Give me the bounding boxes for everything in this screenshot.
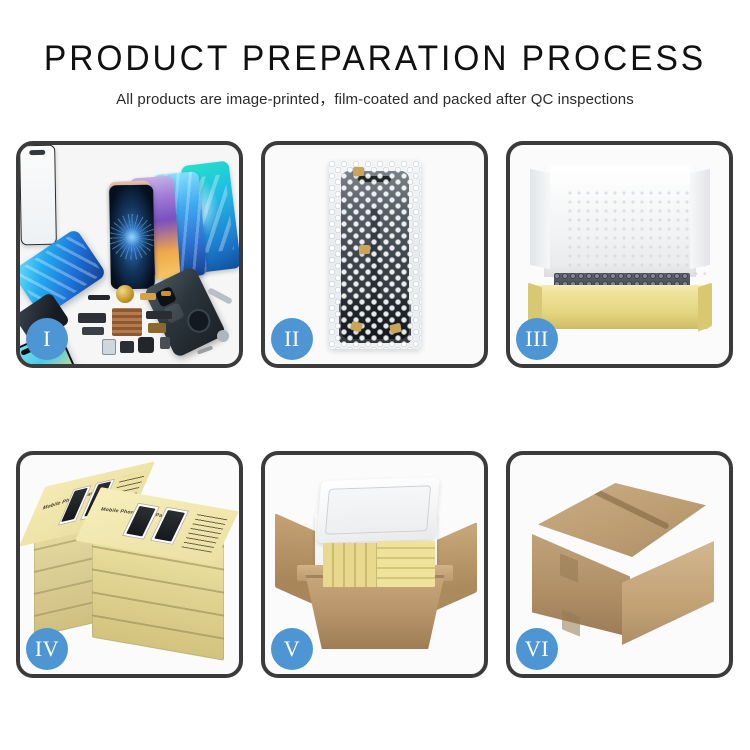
part-battery-connector-icon xyxy=(138,337,154,353)
page-subtitle: All products are image-printed，film-coat… xyxy=(0,76,750,107)
part-button-icon xyxy=(160,337,170,349)
yellow-boxes-row-icon xyxy=(377,541,435,587)
styrofoam-lid-icon xyxy=(316,477,440,543)
step-badge-4: IV xyxy=(26,628,68,670)
part-screw-grid-icon xyxy=(112,308,142,336)
process-step-panel-2[interactable]: II xyxy=(261,141,488,368)
part-screw-icon xyxy=(217,330,229,342)
foam-lining-icon xyxy=(566,189,706,275)
tape-tab-icon xyxy=(359,245,370,254)
page-title: PRODUCT PREPARATION PROCESS xyxy=(15,0,735,76)
part-small-chip-icon xyxy=(161,291,171,296)
process-step-panel-4[interactable]: Mobile Phone Spare Parts Mobile Phone Sp… xyxy=(16,451,243,678)
part-connector-icon xyxy=(88,295,110,300)
step-badge-2: II xyxy=(271,318,313,360)
carton-seam-icon xyxy=(585,484,669,529)
part-cable-strip-icon xyxy=(146,311,172,319)
open-yellow-box xyxy=(528,165,712,333)
box-spec-text-lines xyxy=(181,512,228,553)
step-badge-6: VI xyxy=(516,628,558,670)
process-step-panel-6[interactable]: VI xyxy=(506,451,733,678)
carton-top-face-icon xyxy=(538,483,706,557)
part-flex-cable-icon xyxy=(140,293,156,300)
process-step-panel-1[interactable]: I xyxy=(16,141,243,368)
carton-right-face-icon xyxy=(622,541,714,645)
part-bracket-icon xyxy=(78,313,106,323)
step-badge-3: III xyxy=(516,318,558,360)
process-panel-grid: I II xyxy=(16,141,734,697)
open-carton xyxy=(279,477,471,651)
process-step-panel-3[interactable]: III xyxy=(506,141,733,368)
screen-protector-icon xyxy=(19,145,57,246)
bubble-bag xyxy=(329,161,421,349)
product-preparation-process-page: PRODUCT PREPARATION PROCESS All products… xyxy=(0,0,750,750)
process-step-panel-5[interactable]: V xyxy=(261,451,488,678)
step-badge-5: V xyxy=(271,628,313,670)
sealed-carton xyxy=(524,483,716,647)
tape-tab-icon xyxy=(389,322,402,333)
tape-tab-icon xyxy=(353,167,364,176)
phone-dark-screen-icon xyxy=(109,185,155,290)
part-sim-tray-icon xyxy=(102,339,116,355)
box-base-icon xyxy=(532,293,708,329)
part-ribbon-icon xyxy=(82,327,104,335)
tape-tab-icon xyxy=(350,320,363,331)
part-gold-contact-icon xyxy=(148,323,166,333)
step-badge-1: I xyxy=(26,318,68,360)
box-stack: Mobile Phone Spare Parts Mobile Phone Sp… xyxy=(30,473,230,651)
part-camera-module-icon xyxy=(120,341,134,353)
page-header: PRODUCT PREPARATION PROCESS All products… xyxy=(0,0,750,107)
part-speaker-icon xyxy=(116,285,134,303)
box-lid-icon xyxy=(544,165,696,277)
bubble-texture xyxy=(329,161,421,349)
